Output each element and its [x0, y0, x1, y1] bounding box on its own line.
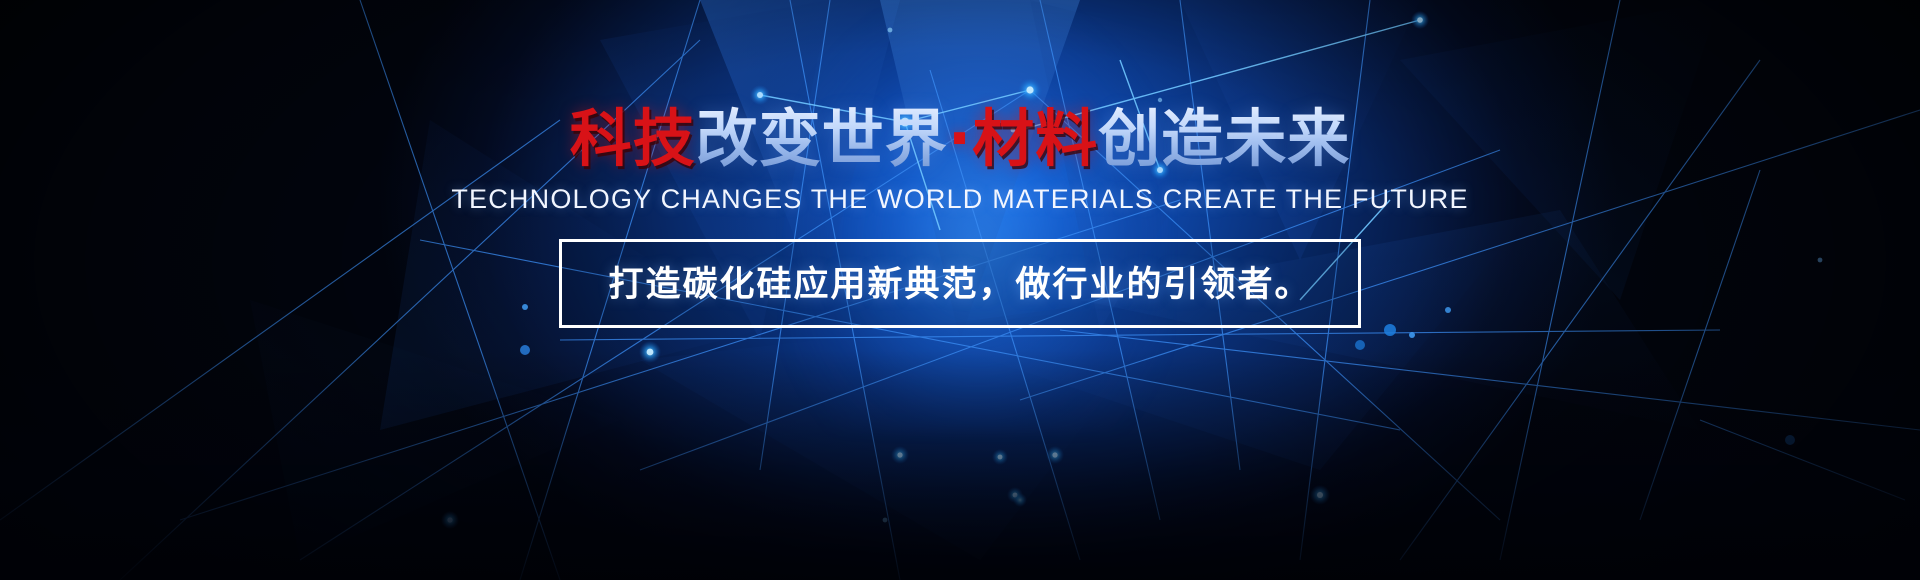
headline-part-red-2: 材料: [972, 102, 1098, 175]
headline: 科技改变世界·材料创造未来: [570, 108, 1351, 170]
headline-part-red-1: 科技: [570, 102, 696, 175]
headline-part-silver-2: 创造未来: [1098, 102, 1350, 175]
slogan-text: 打造碳化硅应用新典范，做行业的引领者。: [608, 256, 1311, 307]
hero-banner: 科技改变世界·材料创造未来 TECHNOLOGY CHANGES THE WOR…: [0, 0, 1920, 580]
subtitle-english: TECHNOLOGY CHANGES THE WORLD MATERIALS C…: [451, 184, 1468, 215]
banner-content: 科技改变世界·材料创造未来 TECHNOLOGY CHANGES THE WOR…: [0, 0, 1920, 580]
slogan-box: 打造碳化硅应用新典范，做行业的引领者。: [559, 239, 1360, 328]
headline-part-silver-1: 改变世界: [696, 102, 948, 175]
headline-separator: ·: [948, 102, 973, 175]
